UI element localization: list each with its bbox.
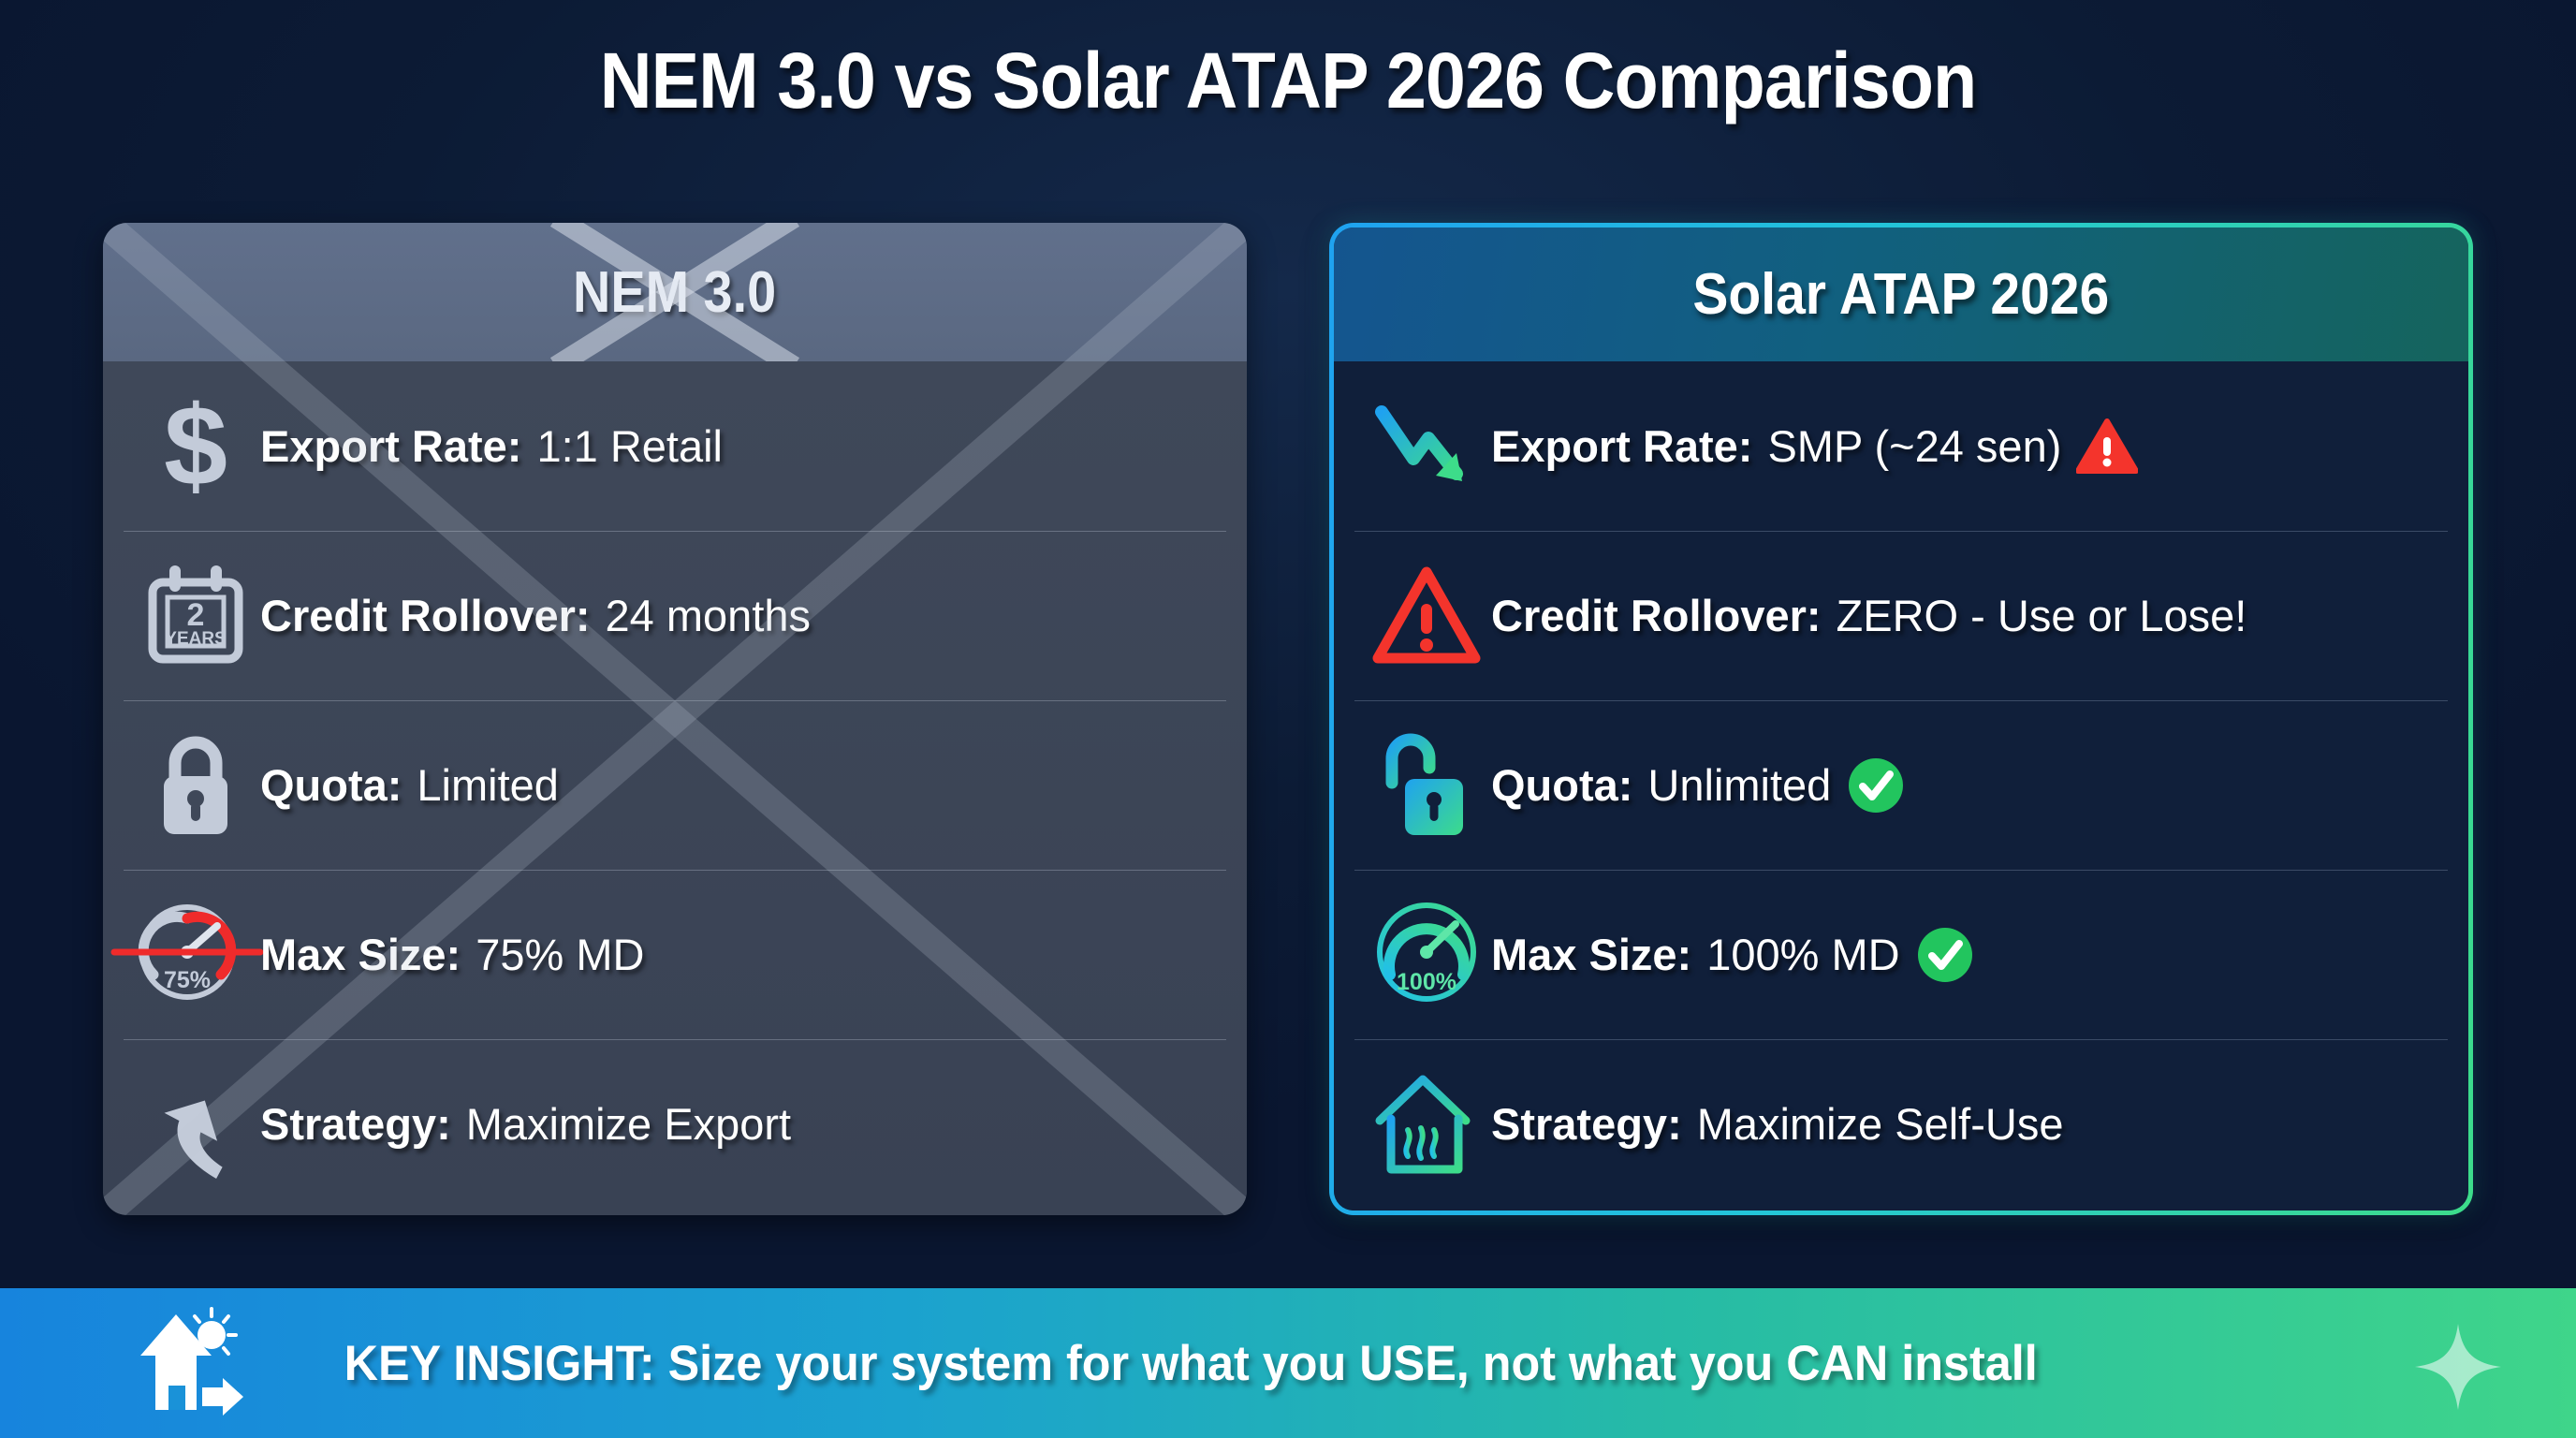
closed-padlock-icon xyxy=(131,725,260,846)
nem30-row-strategy: Strategy: Maximize Export xyxy=(103,1039,1247,1209)
solar-atap-row-2-value: ZERO - Use or Lose! xyxy=(1837,590,2247,641)
gauge-value-caption: 100% xyxy=(1397,969,1456,995)
nem30-row-3-label: Quota: xyxy=(260,759,402,811)
key-insight-banner: KEY INSIGHT: Size your system for what y… xyxy=(0,1288,2576,1438)
solar-atap-row-strategy: Strategy: Maximize Self-Use xyxy=(1334,1039,2468,1209)
nem30-card-header: NEM 3.0 xyxy=(103,223,1247,361)
comparison-cards: NEM 3.0 $ Export Rate: 1:1 Retail xyxy=(103,223,2473,1215)
check-circle-icon xyxy=(1846,756,1906,815)
nem30-card-body: $ Export Rate: 1:1 Retail xyxy=(103,361,1247,1215)
nem30-row-credit-rollover: 2 YEARS Credit Rollover: 24 months xyxy=(103,531,1247,700)
warning-triangle-outline-icon xyxy=(1362,555,1491,677)
solar-atap-row-4-text: Max Size: 100% MD xyxy=(1491,925,1975,985)
nem30-row-4-text: Max Size: 75% MD xyxy=(260,929,644,980)
nem30-row-quota: Quota: Limited xyxy=(103,700,1247,870)
solar-atap-row-quota: Quota: Unlimited xyxy=(1334,700,2468,870)
dollar-sign-icon: $ xyxy=(131,386,260,507)
nem30-card: NEM 3.0 $ Export Rate: 1:1 Retail xyxy=(103,223,1247,1215)
nem30-row-3-value: Limited xyxy=(417,759,559,811)
solar-atap-row-credit-rollover: Credit Rollover: ZERO - Use or Lose! xyxy=(1334,531,2468,700)
gauge-value-caption: 75% xyxy=(164,967,211,993)
house-solar-export-icon xyxy=(131,1299,258,1428)
calendar-unit: YEARS xyxy=(165,629,226,649)
svg-text:$: $ xyxy=(164,391,227,502)
nem30-row-1-value: 1:1 Retail xyxy=(536,420,723,472)
solar-atap-row-max-size: 100% Max Size: 100% MD xyxy=(1334,870,2468,1039)
trending-down-arrow-icon xyxy=(1362,386,1491,507)
nem30-row-max-size: 75% Max Size: 75% MD xyxy=(103,870,1247,1039)
solar-atap-card-header: Solar ATAP 2026 xyxy=(1334,227,2468,361)
gauge-100-percent-icon: 100% xyxy=(1362,894,1491,1016)
nem30-row-5-text: Strategy: Maximize Export xyxy=(260,1098,791,1150)
solar-atap-card-body: Export Rate: SMP (~24 sen) xyxy=(1334,361,2468,1211)
open-padlock-icon xyxy=(1362,725,1491,846)
solar-atap-row-1-label: Export Rate: xyxy=(1491,420,1752,472)
solar-atap-row-3-label: Quota: xyxy=(1491,759,1632,811)
nem30-row-2-value: 24 months xyxy=(606,590,811,641)
nem30-row-1-text: Export Rate: 1:1 Retail xyxy=(260,420,723,472)
sparkle-icon xyxy=(2413,1322,2503,1416)
house-heat-icon xyxy=(1362,1064,1491,1185)
solar-atap-row-5-text: Strategy: Maximize Self-Use xyxy=(1491,1098,2063,1150)
solar-atap-card: Solar ATAP 2026 xyxy=(1329,223,2473,1215)
infographic-root: NEM 3.0 vs Solar ATAP 2026 Comparison NE… xyxy=(0,0,2576,1438)
page-title: NEM 3.0 vs Solar ATAP 2026 Comparison xyxy=(103,36,2473,126)
solar-atap-row-1-value: SMP (~24 sen) xyxy=(1767,420,2061,472)
nem30-row-2-text: Credit Rollover: 24 months xyxy=(260,590,811,641)
gauge-75-percent-icon: 75% xyxy=(131,894,260,1016)
nem30-row-5-value: Maximize Export xyxy=(466,1098,791,1150)
nem30-row-4-value: 75% MD xyxy=(476,929,644,980)
solar-atap-row-4-value: 100% MD xyxy=(1706,929,1899,980)
key-insight-text: KEY INSIGHT: Size your system for what y… xyxy=(344,1335,2038,1392)
nem30-row-4-label: Max Size: xyxy=(260,929,461,980)
solar-atap-row-export-rate: Export Rate: SMP (~24 sen) xyxy=(1334,361,2468,531)
nem30-row-1-label: Export Rate: xyxy=(260,420,521,472)
solar-atap-row-5-label: Strategy: xyxy=(1491,1098,1682,1150)
nem30-row-5-label: Strategy: xyxy=(260,1098,451,1150)
check-circle-icon xyxy=(1915,925,1975,985)
solar-atap-row-2-label: Credit Rollover: xyxy=(1491,590,1822,641)
nem30-row-export-rate: $ Export Rate: 1:1 Retail xyxy=(103,361,1247,531)
solar-atap-row-2-text: Credit Rollover: ZERO - Use or Lose! xyxy=(1491,590,2247,641)
solar-atap-row-1-text: Export Rate: SMP (~24 sen) xyxy=(1491,418,2138,475)
solar-atap-title: Solar ATAP 2026 xyxy=(1693,261,2110,328)
solar-atap-row-3-text: Quota: Unlimited xyxy=(1491,756,1906,815)
calendar-2-years-icon: 2 YEARS xyxy=(131,555,260,677)
solar-atap-row-5-value: Maximize Self-Use xyxy=(1697,1098,2064,1150)
calendar-number: 2 xyxy=(187,597,205,633)
curved-up-arrow-icon xyxy=(131,1064,260,1185)
nem30-row-3-text: Quota: Limited xyxy=(260,759,559,811)
warning-triangle-icon xyxy=(2076,418,2138,475)
nem30-title: NEM 3.0 xyxy=(573,259,776,326)
solar-atap-row-3-value: Unlimited xyxy=(1647,759,1831,811)
nem30-row-2-label: Credit Rollover: xyxy=(260,590,591,641)
solar-atap-row-4-label: Max Size: xyxy=(1491,929,1691,980)
